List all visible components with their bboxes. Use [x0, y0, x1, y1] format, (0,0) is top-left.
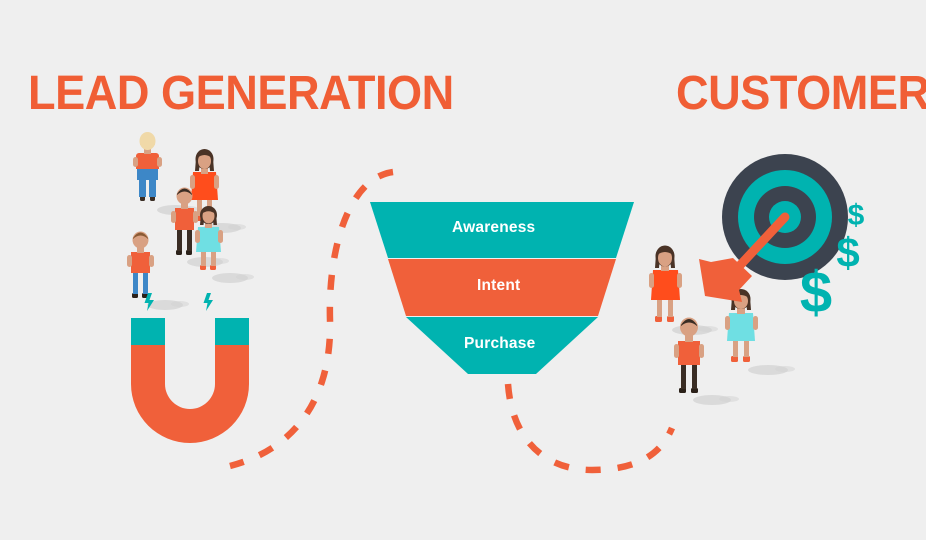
- funnel-label-awareness: Awareness: [452, 219, 535, 237]
- dollar-sign-icon: $: [836, 229, 859, 276]
- dollar-sign-icon: $: [848, 199, 865, 232]
- illustration-layer: $ $ $: [0, 0, 926, 540]
- person-figure: [190, 149, 246, 233]
- person-figure: [195, 206, 254, 283]
- funnel-label-purchase: Purchase: [464, 335, 535, 353]
- spark-icon: [204, 293, 214, 311]
- dashed-path-icon: [508, 384, 672, 470]
- dollar-sign-icon: $: [800, 260, 832, 325]
- lead-people-group: [127, 132, 254, 310]
- person-figure: [725, 289, 795, 375]
- infographic-canvas: LEAD GENERATION CUSTOMERS: [0, 0, 926, 540]
- dashed-path-icon: [230, 172, 393, 466]
- magnet-icon: [131, 293, 249, 443]
- funnel-label-intent: Intent: [477, 277, 520, 295]
